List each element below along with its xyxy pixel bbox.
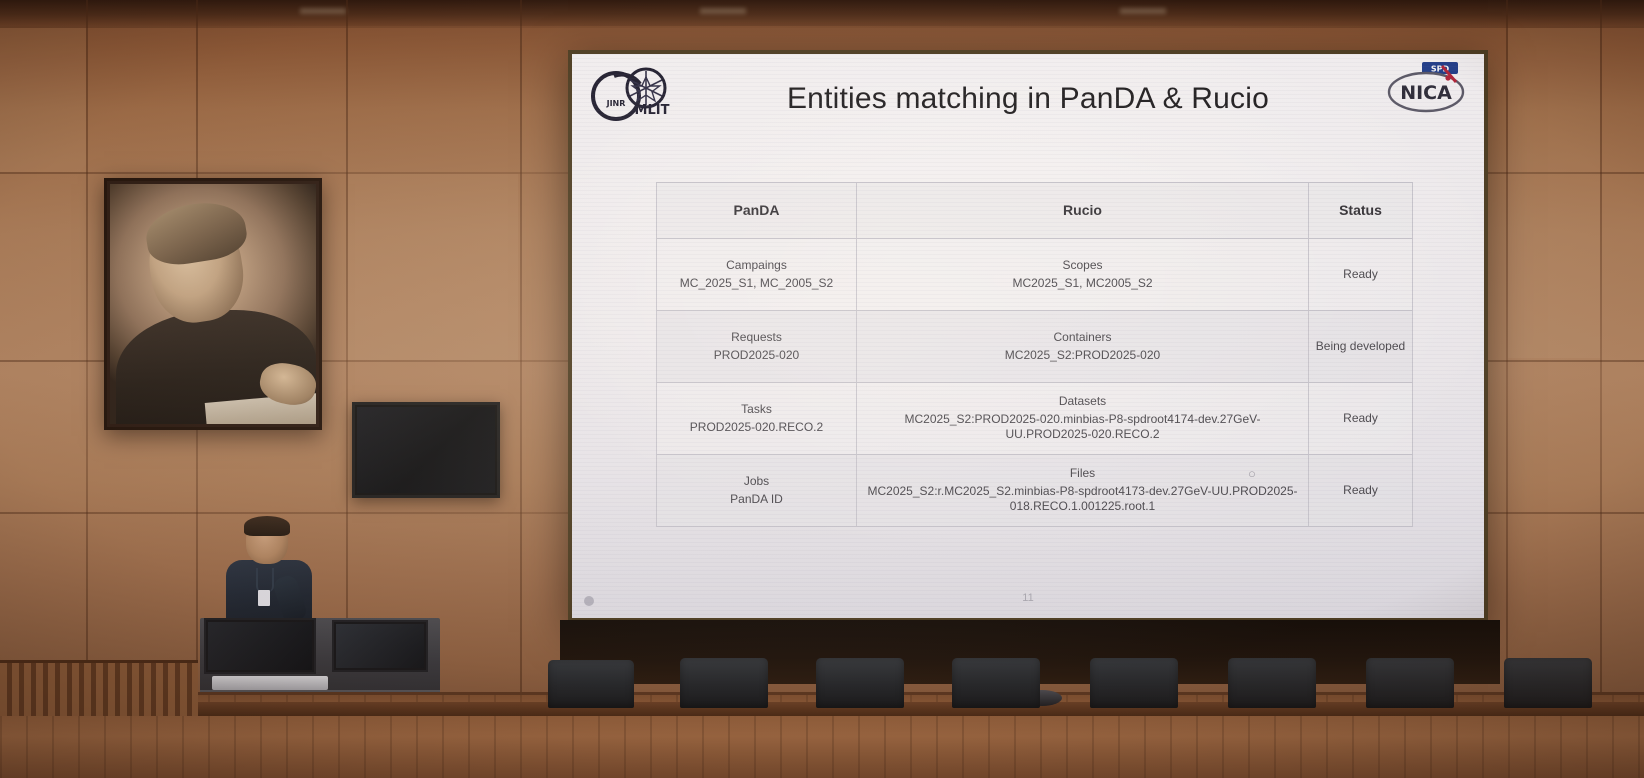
auditorium-seat [816, 658, 904, 708]
panda-entity-name: Tasks [663, 402, 850, 417]
cell-rucio: Containers MC2025_S2:PROD2025-020 [857, 311, 1309, 383]
cell-panda: Tasks PROD2025-020.RECO.2 [657, 383, 857, 455]
portrait-image [110, 184, 316, 424]
auditorium-seat [680, 658, 768, 708]
wall-seam [0, 26, 1644, 28]
console-monitor-right-screen [336, 624, 424, 668]
table-row: Jobs PanDA ID Files MC2025_S2:r.MC2025_S… [657, 455, 1413, 527]
wall-seam [1600, 0, 1602, 700]
ceiling-band [0, 0, 1644, 26]
column-header-panda: PanDA [657, 183, 857, 239]
cell-panda: Requests PROD2025-020 [657, 311, 857, 383]
status-badge: Ready [1309, 239, 1413, 311]
ceiling-light [1120, 8, 1166, 14]
wall-seam [86, 0, 88, 700]
console-monitor-left-screen [208, 622, 312, 670]
console-monitor-right [332, 620, 428, 672]
rucio-entity-value: MC2025_S2:PROD2025-020.minbias-P8-spdroo… [863, 412, 1302, 443]
cell-rucio: Files MC2025_S2:r.MC2025_S2.minbias-P8-s… [857, 455, 1309, 527]
presenter-hair [244, 516, 290, 536]
table-header-row: PanDA Rucio Status [657, 183, 1413, 239]
cell-rucio: Datasets MC2025_S2:PROD2025-020.minbias-… [857, 383, 1309, 455]
presenter-badge [258, 590, 270, 606]
wall-mounted-display [352, 402, 500, 498]
table-row: Campaings MC_2025_S1, MC_2005_S2 Scopes … [657, 239, 1413, 311]
wall-panel [1508, 28, 1600, 358]
column-header-rucio: Rucio [857, 183, 1309, 239]
rucio-entity-value: MC2025_S1, MC2005_S2 [863, 276, 1302, 291]
rucio-entity-name: Files [863, 466, 1302, 481]
auditorium-seat [1504, 658, 1592, 708]
slide-title: Entities matching in PanDA & Rucio [572, 82, 1484, 116]
cell-panda: Campaings MC_2025_S1, MC_2005_S2 [657, 239, 857, 311]
status-badge: Being developed [1309, 311, 1413, 383]
presentation-slide: JINR MLIT SPD NICA Entities matching in … [572, 54, 1484, 618]
presenter-lanyard [256, 568, 274, 592]
panda-entity-name: Requests [663, 330, 850, 345]
lecture-hall-background: JINR MLIT SPD NICA Entities matching in … [0, 0, 1644, 778]
status-badge: Ready [1309, 455, 1413, 527]
rucio-entity-name: Scopes [863, 258, 1302, 273]
auditorium-seat [548, 660, 634, 708]
framed-portrait [104, 178, 322, 430]
panda-entity-value: PROD2025-020.RECO.2 [663, 420, 850, 435]
entities-matching-table: PanDA Rucio Status Campaings MC_2025_S1,… [656, 182, 1413, 527]
wall-panel [0, 28, 86, 172]
projection-screen: JINR MLIT SPD NICA Entities matching in … [568, 50, 1488, 622]
panda-entity-name: Jobs [663, 474, 850, 489]
rucio-entity-value: MC2025_S2:r.MC2025_S2.minbias-P8-spdroot… [863, 484, 1302, 515]
panda-entity-value: PanDA ID [663, 492, 850, 507]
panda-entity-value: PROD2025-020 [663, 348, 850, 363]
ceiling-light [300, 8, 346, 14]
console-keyboard [212, 676, 328, 690]
rucio-entity-name: Datasets [863, 394, 1302, 409]
auditorium-seat [1366, 658, 1454, 708]
ceiling-light [700, 8, 746, 14]
status-badge: Ready [1309, 383, 1413, 455]
cell-rucio: Scopes MC2025_S1, MC2005_S2 [857, 239, 1309, 311]
auditorium-seat [952, 658, 1040, 708]
auditorium-seat [1090, 658, 1178, 708]
table-row: Tasks PROD2025-020.RECO.2 Datasets MC202… [657, 383, 1413, 455]
wall-display-screen [357, 407, 495, 493]
rucio-entity-name: Containers [863, 330, 1302, 345]
wall-seam [520, 0, 522, 700]
panda-entity-value: MC_2025_S1, MC_2005_S2 [663, 276, 850, 291]
console-monitor-left [204, 618, 316, 674]
table-row: Requests PROD2025-020 Containers MC2025_… [657, 311, 1413, 383]
mouse-cursor-icon: ○ [1248, 466, 1256, 481]
panda-entity-name: Campaings [663, 258, 850, 273]
wall-panel [348, 174, 518, 360]
column-header-status: Status [1309, 183, 1413, 239]
auditorium-seat [1228, 658, 1316, 708]
rucio-entity-value: MC2025_S2:PROD2025-020 [863, 348, 1302, 363]
slide-page-number: 11 [572, 592, 1484, 604]
cell-panda: Jobs PanDA ID [657, 455, 857, 527]
balustrade-slats [0, 660, 198, 716]
